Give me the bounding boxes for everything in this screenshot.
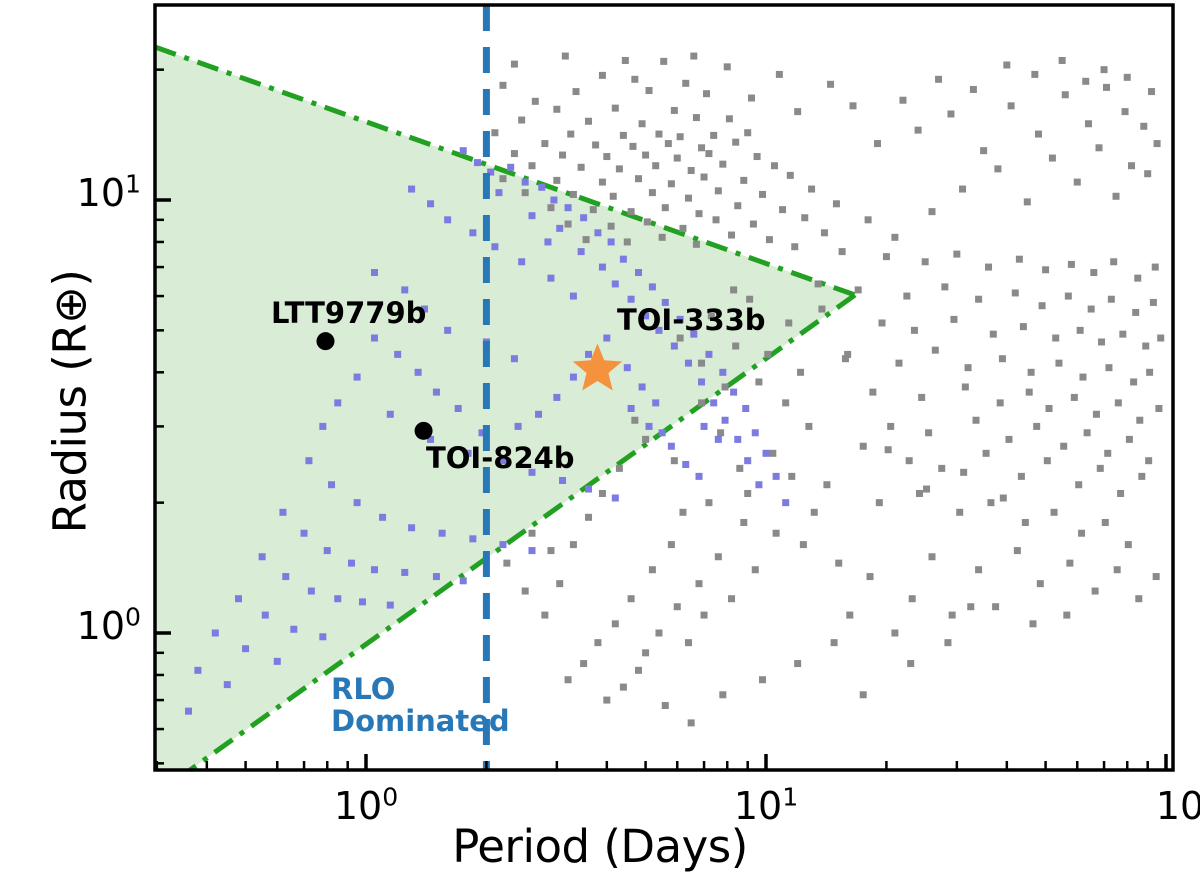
data-point bbox=[701, 423, 708, 430]
data-point bbox=[1012, 289, 1019, 296]
data-point bbox=[1148, 88, 1155, 95]
data-point bbox=[1088, 306, 1095, 313]
data-point bbox=[324, 547, 331, 554]
data-point bbox=[1125, 541, 1132, 548]
data-point bbox=[639, 120, 646, 127]
data-point bbox=[570, 293, 577, 300]
data-point bbox=[585, 486, 592, 493]
data-point bbox=[696, 473, 703, 480]
data-point bbox=[755, 481, 762, 488]
data-point bbox=[1060, 443, 1067, 450]
data-point bbox=[185, 708, 192, 715]
data-point bbox=[1020, 323, 1027, 330]
data-point bbox=[705, 499, 712, 506]
data-point bbox=[553, 106, 560, 113]
data-point bbox=[715, 436, 722, 443]
data-point bbox=[620, 132, 627, 139]
data-point bbox=[763, 450, 770, 457]
data-point bbox=[565, 221, 572, 228]
data-point bbox=[622, 57, 629, 64]
data-point bbox=[235, 595, 242, 602]
data-point bbox=[764, 351, 771, 358]
data-point bbox=[594, 639, 601, 646]
data-point bbox=[742, 405, 749, 412]
data-point bbox=[746, 296, 753, 303]
data-point bbox=[1029, 620, 1036, 627]
data-point bbox=[580, 660, 587, 667]
data-point bbox=[460, 577, 467, 584]
data-point bbox=[835, 560, 842, 567]
data-point bbox=[688, 719, 695, 726]
data-point bbox=[1059, 57, 1066, 64]
data-point bbox=[740, 177, 747, 184]
annotation-toi333b: TOI-333b bbox=[617, 303, 766, 337]
data-point bbox=[1096, 144, 1103, 151]
data-point bbox=[833, 200, 840, 207]
data-point bbox=[769, 450, 776, 457]
data-point bbox=[987, 499, 994, 506]
data-point bbox=[895, 360, 902, 367]
data-point bbox=[570, 374, 577, 381]
data-point bbox=[592, 141, 599, 148]
data-point bbox=[1130, 378, 1137, 385]
data-point bbox=[949, 612, 956, 619]
data-point bbox=[628, 405, 635, 412]
data-point bbox=[938, 465, 945, 472]
data-point bbox=[1117, 490, 1124, 497]
data-point bbox=[1102, 519, 1109, 526]
data-point bbox=[719, 369, 726, 376]
data-point bbox=[800, 541, 807, 548]
data-point bbox=[328, 481, 335, 488]
data-point bbox=[1084, 429, 1091, 436]
data-point bbox=[962, 383, 969, 390]
data-point bbox=[1115, 399, 1122, 406]
data-point bbox=[522, 179, 529, 186]
data-point bbox=[710, 399, 717, 406]
data-point bbox=[553, 177, 560, 184]
data-point bbox=[427, 200, 434, 207]
data-point bbox=[334, 399, 341, 406]
data-point bbox=[1105, 364, 1112, 371]
data-point bbox=[967, 603, 974, 610]
data-point bbox=[544, 238, 551, 245]
data-point bbox=[1039, 302, 1046, 309]
data-point bbox=[1098, 338, 1105, 345]
data-point bbox=[685, 639, 692, 646]
rlo-line-2: Dominated bbox=[331, 705, 510, 737]
data-point bbox=[906, 457, 913, 464]
data-point bbox=[865, 216, 872, 223]
data-point bbox=[685, 360, 692, 367]
data-point bbox=[801, 214, 808, 221]
data-point bbox=[491, 129, 498, 136]
data-point bbox=[556, 225, 563, 232]
data-point bbox=[631, 76, 638, 83]
data-point bbox=[635, 175, 642, 182]
data-point bbox=[408, 186, 415, 193]
data-point bbox=[541, 612, 548, 619]
data-point bbox=[1052, 335, 1059, 342]
data-point bbox=[794, 660, 801, 667]
data-point bbox=[849, 102, 856, 109]
data-point bbox=[547, 547, 554, 554]
data-point bbox=[759, 676, 766, 683]
data-point bbox=[1046, 405, 1053, 412]
data-point bbox=[401, 569, 408, 576]
data-point bbox=[1008, 102, 1015, 109]
data-point bbox=[736, 465, 743, 472]
data-point bbox=[573, 88, 580, 95]
y-axis-title-wrapper: Radius (R⊕) bbox=[44, 12, 97, 792]
data-point bbox=[1055, 360, 1062, 367]
data-point bbox=[713, 216, 720, 223]
data-point bbox=[944, 639, 951, 646]
data-point bbox=[1126, 436, 1133, 443]
data-point bbox=[583, 236, 590, 243]
data-point bbox=[308, 588, 315, 595]
data-point bbox=[928, 553, 935, 560]
data-point bbox=[748, 95, 755, 102]
data-point bbox=[785, 319, 792, 326]
data-point bbox=[599, 264, 606, 271]
data-point bbox=[585, 514, 592, 521]
data-point bbox=[975, 566, 982, 573]
data-point bbox=[535, 411, 542, 418]
data-point bbox=[994, 165, 1001, 172]
data-point bbox=[965, 364, 972, 371]
data-point bbox=[698, 360, 705, 367]
data-point bbox=[701, 174, 708, 181]
data-point bbox=[354, 499, 361, 506]
data-point bbox=[887, 423, 894, 430]
data-point bbox=[590, 206, 597, 213]
data-point bbox=[682, 461, 689, 468]
data-point bbox=[642, 649, 649, 656]
data-point bbox=[511, 61, 518, 68]
data-point bbox=[620, 684, 627, 691]
data-point bbox=[911, 327, 918, 334]
data-point bbox=[1108, 296, 1115, 303]
data-point bbox=[334, 595, 341, 602]
data-point bbox=[499, 82, 506, 89]
data-point bbox=[839, 248, 846, 255]
data-point bbox=[701, 612, 708, 619]
data-point bbox=[990, 331, 997, 338]
data-point bbox=[928, 208, 935, 215]
data-point bbox=[1031, 71, 1038, 78]
data-point bbox=[538, 184, 545, 191]
data-point bbox=[224, 681, 231, 688]
data-point bbox=[408, 524, 415, 531]
data-point bbox=[1128, 162, 1135, 169]
data-point bbox=[394, 351, 401, 358]
data-point bbox=[975, 296, 982, 303]
data-point bbox=[1142, 343, 1149, 350]
data-point bbox=[1044, 457, 1051, 464]
data-point bbox=[585, 118, 592, 125]
data-point bbox=[594, 229, 601, 236]
data-point bbox=[628, 208, 635, 215]
circle-marker-ltt9779b bbox=[316, 332, 334, 350]
data-point bbox=[599, 490, 606, 497]
data-point bbox=[693, 241, 700, 248]
data-point bbox=[874, 140, 881, 147]
data-point bbox=[612, 280, 619, 287]
data-point bbox=[371, 566, 378, 573]
data-point bbox=[759, 191, 766, 198]
data-point bbox=[885, 446, 892, 453]
data-point bbox=[1042, 266, 1049, 273]
data-point bbox=[532, 98, 539, 105]
data-point bbox=[717, 429, 724, 436]
data-point bbox=[1152, 264, 1159, 271]
data-point bbox=[932, 347, 939, 354]
data-point bbox=[515, 423, 522, 430]
data-point bbox=[891, 630, 898, 637]
data-point bbox=[401, 286, 408, 293]
data-point bbox=[755, 378, 762, 385]
data-point bbox=[570, 541, 577, 548]
data-point bbox=[1024, 198, 1031, 205]
data-point bbox=[1113, 193, 1120, 200]
data-point bbox=[1033, 423, 1040, 430]
data-point bbox=[1132, 309, 1139, 316]
data-point bbox=[771, 162, 778, 169]
data-point bbox=[671, 457, 678, 464]
data-point bbox=[1037, 580, 1044, 587]
data-point bbox=[797, 369, 804, 376]
data-point bbox=[740, 519, 747, 526]
data-point bbox=[1122, 108, 1129, 115]
rlo-shaded-region bbox=[155, 47, 855, 770]
data-point bbox=[970, 86, 977, 93]
data-point bbox=[652, 162, 659, 169]
data-point bbox=[1093, 411, 1100, 418]
data-point bbox=[469, 535, 476, 542]
data-point bbox=[608, 238, 615, 245]
data-point bbox=[646, 423, 653, 430]
data-point bbox=[541, 140, 548, 147]
data-point bbox=[578, 248, 585, 255]
data-point bbox=[474, 159, 481, 166]
data-point bbox=[1068, 261, 1075, 268]
data-point bbox=[639, 383, 646, 390]
data-point bbox=[724, 63, 731, 70]
data-point bbox=[1092, 588, 1099, 595]
data-point bbox=[646, 87, 653, 94]
data-point bbox=[279, 509, 286, 516]
data-point bbox=[649, 283, 656, 290]
data-point bbox=[507, 164, 514, 171]
data-point bbox=[899, 97, 906, 104]
data-point bbox=[668, 180, 675, 187]
data-point bbox=[787, 172, 794, 179]
data-point bbox=[1005, 436, 1012, 443]
data-point bbox=[528, 162, 535, 169]
data-point bbox=[722, 383, 729, 390]
data-point bbox=[580, 214, 587, 221]
data-point bbox=[953, 251, 960, 258]
data-point bbox=[698, 378, 705, 385]
data-point bbox=[631, 417, 638, 424]
data-point bbox=[518, 117, 525, 124]
data-point bbox=[732, 343, 739, 350]
data-point bbox=[567, 131, 574, 138]
data-point bbox=[1135, 595, 1142, 602]
data-point bbox=[750, 221, 757, 228]
data-point bbox=[860, 691, 867, 698]
data-point bbox=[1049, 155, 1056, 162]
data-point bbox=[547, 204, 554, 211]
data-point bbox=[1114, 566, 1121, 573]
data-point bbox=[918, 394, 925, 401]
data-point bbox=[1103, 84, 1110, 91]
data-point bbox=[1077, 327, 1084, 334]
data-point bbox=[1074, 179, 1081, 186]
data-point bbox=[652, 399, 659, 406]
data-point bbox=[274, 658, 281, 665]
data-point bbox=[860, 443, 867, 450]
data-point bbox=[776, 71, 783, 78]
data-point bbox=[710, 132, 717, 139]
data-point bbox=[528, 530, 535, 537]
data-point bbox=[730, 389, 737, 396]
data-point bbox=[671, 343, 678, 350]
data-point bbox=[916, 490, 923, 497]
data-point bbox=[1085, 120, 1092, 127]
data-point bbox=[628, 595, 635, 602]
data-point bbox=[522, 588, 529, 595]
data-point bbox=[439, 530, 446, 537]
data-point bbox=[491, 243, 498, 250]
data-point bbox=[685, 195, 692, 202]
data-point bbox=[842, 355, 849, 362]
data-point bbox=[655, 131, 662, 138]
data-point bbox=[495, 189, 502, 196]
data-point bbox=[791, 243, 798, 250]
data-point bbox=[941, 283, 948, 290]
data-point bbox=[909, 595, 916, 602]
data-point bbox=[655, 630, 662, 637]
data-point bbox=[612, 620, 619, 627]
data-point bbox=[831, 639, 838, 646]
data-point bbox=[867, 573, 874, 580]
data-point bbox=[612, 495, 619, 502]
data-point bbox=[262, 612, 269, 619]
data-point bbox=[674, 603, 681, 610]
data-point bbox=[719, 691, 726, 698]
data-point bbox=[642, 436, 649, 443]
data-point bbox=[705, 351, 712, 358]
data-point bbox=[562, 53, 569, 60]
data-point bbox=[371, 335, 378, 342]
circle-marker-toi-824b bbox=[415, 422, 433, 440]
data-point bbox=[635, 269, 642, 276]
data-point bbox=[818, 306, 825, 313]
data-point bbox=[754, 153, 761, 160]
data-point bbox=[693, 114, 700, 121]
data-point bbox=[282, 573, 289, 580]
data-point bbox=[387, 602, 394, 609]
data-point bbox=[354, 374, 361, 381]
data-point bbox=[1063, 612, 1070, 619]
data-point bbox=[956, 509, 963, 516]
data-point bbox=[794, 108, 801, 115]
data-point bbox=[415, 369, 422, 376]
data-point bbox=[556, 580, 563, 587]
data-point bbox=[433, 389, 440, 396]
data-point bbox=[1028, 369, 1035, 376]
data-point bbox=[811, 509, 818, 516]
data-point bbox=[734, 436, 741, 443]
data-point bbox=[301, 530, 308, 537]
data-point bbox=[1062, 91, 1069, 98]
data-point bbox=[528, 212, 535, 219]
data-point bbox=[1157, 335, 1164, 342]
data-point bbox=[553, 394, 560, 401]
data-point bbox=[547, 275, 554, 282]
data-point bbox=[734, 202, 741, 209]
data-point bbox=[1097, 465, 1104, 472]
data-point bbox=[821, 229, 828, 236]
data-point bbox=[1154, 140, 1161, 147]
data-point bbox=[719, 161, 726, 168]
data-point bbox=[788, 473, 795, 480]
data-point bbox=[603, 153, 610, 160]
data-point bbox=[907, 660, 914, 667]
data-point bbox=[499, 541, 506, 548]
data-point bbox=[585, 351, 592, 358]
data-point bbox=[518, 258, 525, 265]
data-point bbox=[950, 316, 957, 323]
data-point bbox=[1079, 374, 1086, 381]
data-point bbox=[679, 509, 686, 516]
data-point bbox=[1082, 78, 1089, 85]
data-point bbox=[608, 223, 615, 230]
data-point bbox=[960, 469, 967, 476]
data-point bbox=[444, 216, 451, 223]
data-point bbox=[1003, 62, 1010, 69]
data-point bbox=[876, 499, 883, 506]
data-point bbox=[698, 144, 705, 151]
data-point bbox=[1144, 170, 1151, 177]
data-point bbox=[947, 110, 954, 117]
data-point bbox=[469, 229, 476, 236]
data-point bbox=[679, 225, 686, 232]
data-point bbox=[550, 197, 557, 204]
data-point bbox=[1134, 275, 1141, 282]
data-point bbox=[319, 423, 326, 430]
data-point bbox=[1000, 495, 1007, 502]
data-point bbox=[660, 58, 667, 65]
data-point bbox=[1140, 123, 1147, 130]
annotation-ltt9779b: LTT9779b bbox=[271, 296, 426, 330]
data-point bbox=[879, 319, 886, 326]
data-point bbox=[1016, 256, 1023, 263]
data-point bbox=[1014, 547, 1021, 554]
data-point bbox=[371, 269, 378, 276]
data-point bbox=[319, 633, 326, 640]
data-point bbox=[869, 389, 876, 396]
rlo-line-1: RLO bbox=[331, 673, 510, 705]
data-point bbox=[662, 702, 669, 709]
data-point bbox=[659, 429, 666, 436]
data-point bbox=[715, 187, 722, 194]
data-point bbox=[616, 165, 623, 172]
data-point bbox=[935, 76, 942, 83]
data-point bbox=[1146, 369, 1153, 376]
